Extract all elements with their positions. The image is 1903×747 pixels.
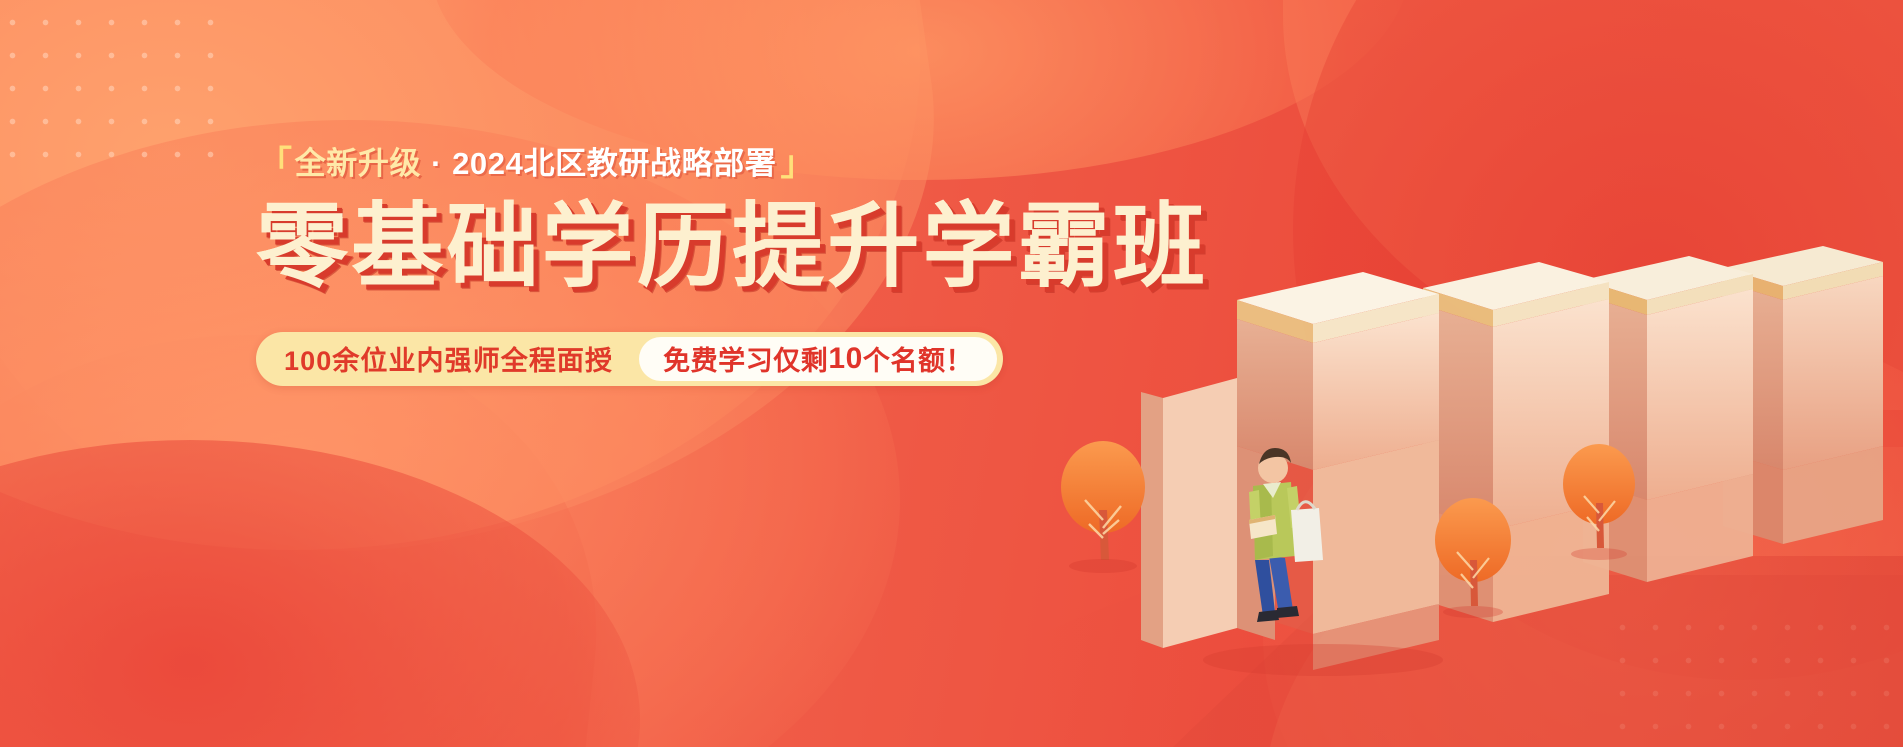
pill-number: 10: [828, 342, 863, 376]
eyebrow-white-text: 2024北区教研战略部署: [452, 148, 776, 179]
close-bracket: 」: [780, 148, 815, 180]
pill-prefix: 免费学习仅剩: [663, 339, 828, 378]
badge-left-text: 100余位业内强师全程面授: [284, 339, 639, 378]
dot-pattern-bottom-right: [1606, 611, 1901, 743]
copy-block: 「 全新升级 · 2024北区教研战略部署 」 零基础学历提升学霸班 100余位…: [256, 148, 1016, 386]
promo-banner: 「 全新升级 · 2024北区教研战略部署 」 零基础学历提升学霸班 100余位…: [0, 0, 1903, 747]
eyebrow-line: 「 全新升级 · 2024北区教研战略部署 」: [256, 148, 1016, 180]
eyebrow-highlight-text: 全新升级: [295, 148, 421, 179]
open-bracket: 「: [258, 148, 293, 180]
seats-remaining-pill[interactable]: 免费学习仅剩10个名额！: [639, 337, 997, 381]
headline: 零基础学历提升学霸班: [256, 198, 1016, 297]
pill-suffix: 个名额！: [863, 339, 973, 378]
eyebrow-separator: ·: [431, 148, 442, 179]
promo-badge[interactable]: 100余位业内强师全程面授 免费学习仅剩10个名额！: [256, 332, 1003, 386]
dot-pattern-top-left: [0, 6, 214, 171]
